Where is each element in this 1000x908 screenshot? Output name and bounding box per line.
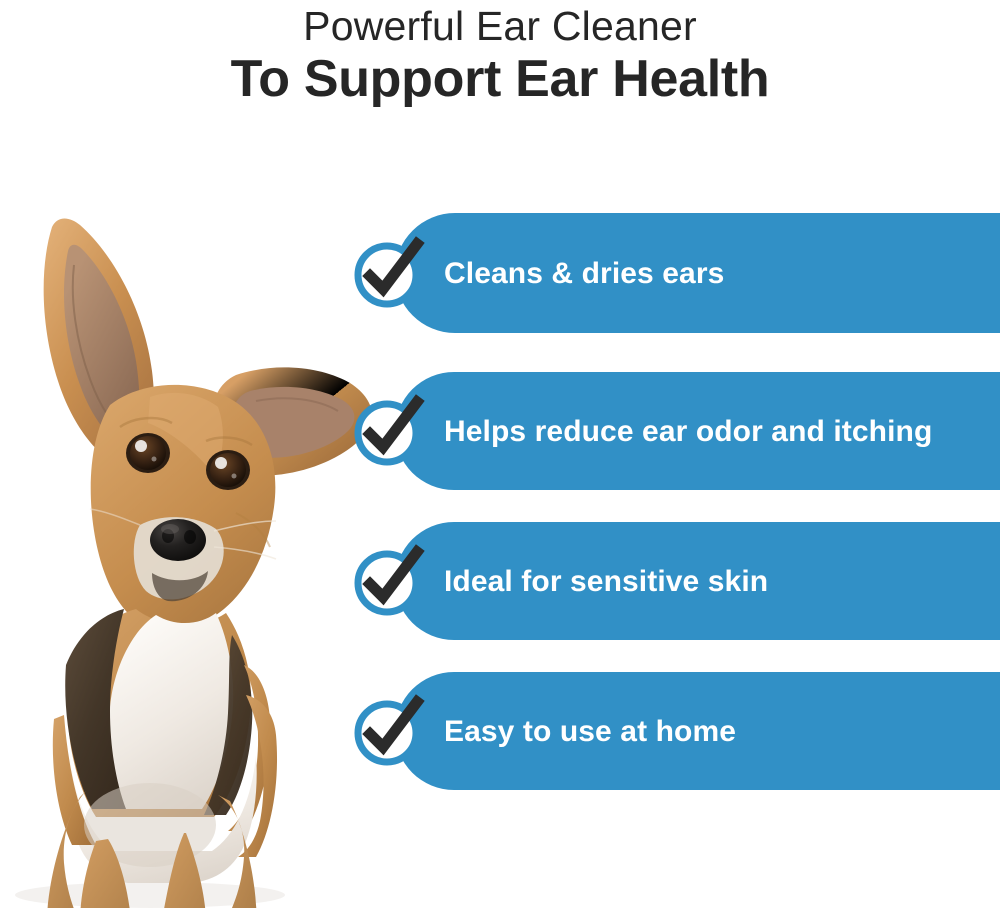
dog-left-eye: [126, 433, 170, 473]
benefit-label-3: Ideal for sensitive skin: [444, 563, 788, 600]
benefit-label-2: Helps reduce ear odor and itching: [444, 413, 952, 450]
headline-line-2: To Support Ear Health: [0, 49, 1000, 109]
dog-head: [90, 385, 276, 633]
dog-nose: [150, 519, 206, 561]
dog-right-eye: [206, 450, 250, 490]
benefit-banner-1: Cleans & dries ears: [395, 213, 1000, 333]
dog-illustration: [0, 195, 400, 908]
check-circle-icon: [350, 692, 428, 770]
dog-photo: [0, 195, 400, 908]
benefit-banner-3: Ideal for sensitive skin: [395, 522, 1000, 640]
headline-line-1: Powerful Ear Cleaner: [0, 1, 1000, 51]
benefit-banner-4: Easy to use at home: [395, 672, 1000, 790]
benefit-label-4: Easy to use at home: [444, 713, 756, 750]
benefit-label-1: Cleans & dries ears: [444, 255, 744, 292]
check-circle-icon: [350, 542, 428, 620]
benefit-banner-2: Helps reduce ear odor and itching: [395, 372, 1000, 490]
headline-block: Powerful Ear Cleaner To Support Ear Heal…: [0, 0, 1000, 109]
check-circle-icon: [350, 392, 428, 470]
product-infographic: Powerful Ear Cleaner To Support Ear Heal…: [0, 0, 1000, 908]
check-circle-icon: [350, 234, 428, 312]
